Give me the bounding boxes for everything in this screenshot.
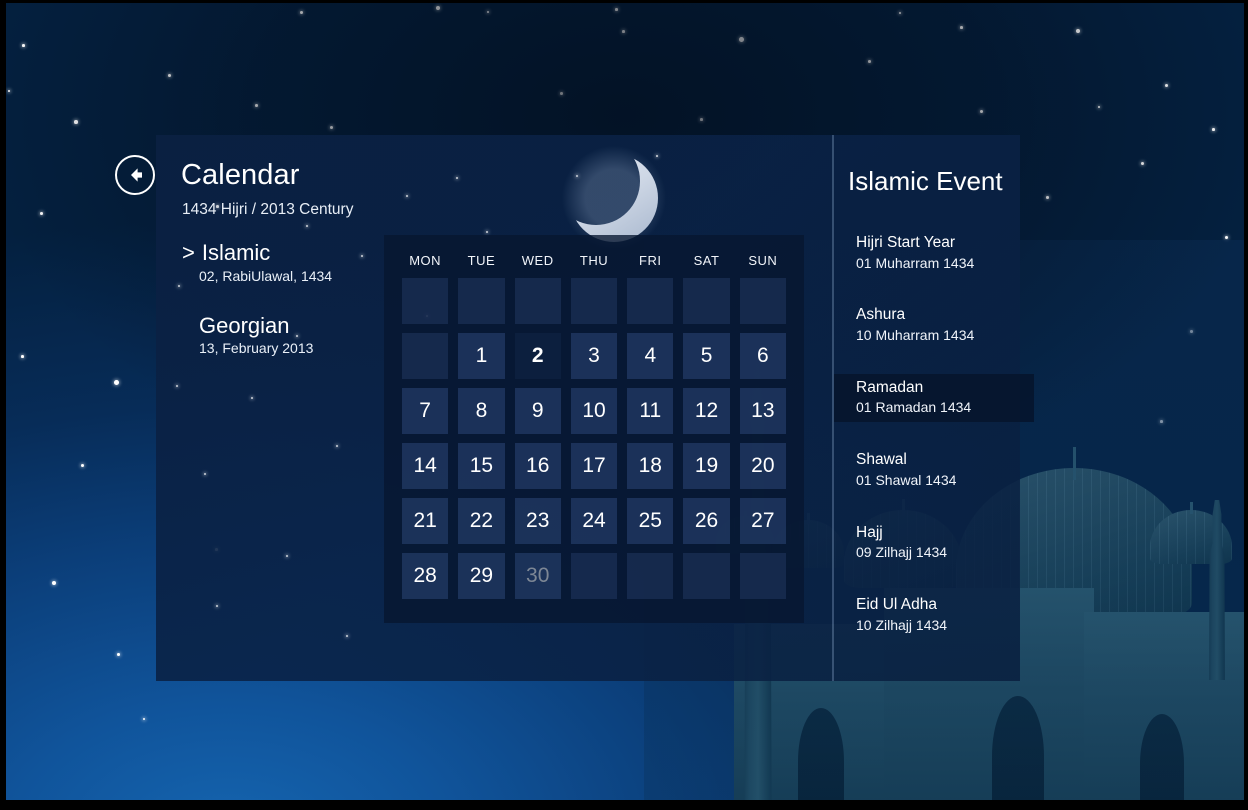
weekday-label-tue: TUE	[458, 253, 504, 268]
calendar-cell-empty	[683, 278, 729, 324]
star	[739, 37, 744, 42]
nav-item-date: 02, RabiUlawal, 1434	[199, 268, 382, 284]
star	[251, 397, 253, 399]
page-subtitle: 1434 Hijri / 2013 Century	[182, 201, 353, 219]
star	[436, 6, 440, 10]
event-date: 01 Shawal 1434	[856, 472, 1022, 489]
calendar-day-cell[interactable]: 9	[515, 388, 561, 434]
star	[255, 104, 258, 107]
event-date: 01 Muharram 1434	[856, 255, 1022, 272]
star	[456, 177, 458, 179]
calendar-day-cell[interactable]: 8	[458, 388, 504, 434]
calendar-day-cell[interactable]: 7	[402, 388, 448, 434]
calendar-cell-empty	[740, 553, 786, 599]
star	[286, 555, 288, 557]
star	[21, 355, 24, 358]
calendar-day-cell[interactable]: 23	[515, 498, 561, 544]
star	[1225, 236, 1228, 239]
star	[960, 26, 963, 29]
calendar-day-cell[interactable]: 17	[571, 443, 617, 489]
event-item[interactable]: Ramadan01 Ramadan 1434	[834, 374, 1034, 422]
calendar-app-panel: Calendar 1434 Hijri / 2013 Century	[156, 135, 1020, 681]
event-name: Hijri Start Year	[856, 234, 1022, 253]
events-panel-title: Islamic Event	[848, 166, 1003, 197]
calendar-day-cell[interactable]: 25	[627, 498, 673, 544]
calendar-cell-empty	[571, 278, 617, 324]
star	[656, 155, 658, 157]
star	[487, 11, 489, 13]
weekday-label-fri: FRI	[627, 253, 673, 268]
calendar-day-cell[interactable]: 19	[683, 443, 729, 489]
nav-item-label: Islamic	[202, 240, 270, 265]
calendar-cell-empty	[458, 278, 504, 324]
calendar-day-cell[interactable]: 20	[740, 443, 786, 489]
star	[560, 92, 563, 95]
mosque-dome-small	[1150, 510, 1232, 564]
calendar-day-cell[interactable]: 15	[458, 443, 504, 489]
mosque-arch	[992, 696, 1044, 800]
star	[330, 126, 333, 129]
calendar-day-grid: 1234567891011121314151617181920212223242…	[384, 268, 804, 599]
nav-item-georgian[interactable]: Georgian13, February 2013	[182, 314, 382, 357]
mosque-arch	[798, 708, 844, 800]
star	[300, 11, 303, 14]
islamic-events-panel: Islamic Event Hijri Start Year01 Muharra…	[832, 135, 1022, 681]
star	[336, 445, 338, 447]
star	[486, 231, 488, 233]
events-list: Hijri Start Year01 Muharram 1434Ashura10…	[834, 229, 1022, 663]
calendar-day-cell[interactable]: 22	[458, 498, 504, 544]
night-sky-background: Calendar 1434 Hijri / 2013 Century	[6, 3, 1244, 800]
star	[8, 90, 10, 92]
calendar-day-cell[interactable]: 13	[740, 388, 786, 434]
star	[204, 473, 206, 475]
calendar-cell-empty	[627, 278, 673, 324]
calendar-day-cell[interactable]: 16	[515, 443, 561, 489]
event-name: Ramadan	[856, 379, 1034, 398]
weekday-label-wed: WED	[515, 253, 561, 268]
star	[615, 8, 618, 11]
back-button[interactable]	[115, 155, 155, 195]
nav-item-label: Georgian	[199, 313, 290, 338]
arrow-left-icon	[124, 164, 146, 186]
star	[40, 212, 43, 215]
event-item[interactable]: Shawal01 Shawal 1434	[834, 446, 1022, 494]
star	[81, 464, 84, 467]
event-name: Ashura	[856, 306, 1022, 325]
star	[1212, 128, 1215, 131]
calendar-day-cell[interactable]: 29	[458, 553, 504, 599]
star	[1098, 106, 1100, 108]
calendar-day-cell[interactable]: 26	[683, 498, 729, 544]
event-date: 10 Muharram 1434	[856, 327, 1022, 344]
star	[216, 605, 218, 607]
calendar-day-cell[interactable]: 1	[458, 333, 504, 379]
calendar-day-cell[interactable]: 11	[627, 388, 673, 434]
calendar-day-cell[interactable]: 18	[627, 443, 673, 489]
weekday-label-sat: SAT	[683, 253, 729, 268]
star	[114, 380, 119, 385]
chevron-right-icon: >	[182, 241, 195, 266]
page-title: Calendar	[181, 159, 300, 192]
star	[74, 120, 78, 124]
star	[1076, 29, 1080, 33]
event-item[interactable]: Hajj09 Zilhajj 1434	[834, 519, 1022, 567]
star	[178, 285, 180, 287]
calendar-day-cell[interactable]: 24	[571, 498, 617, 544]
calendar-day-cell[interactable]: 28	[402, 553, 448, 599]
event-name: Shawal	[856, 451, 1022, 470]
star	[117, 653, 120, 656]
star	[899, 12, 901, 14]
app-stage: Calendar 1434 Hijri / 2013 Century	[0, 0, 1248, 810]
event-name: Eid Ul Adha	[856, 596, 1022, 615]
mosque-minaret-small	[1206, 500, 1228, 680]
star	[576, 175, 578, 177]
calendar-cell-empty	[740, 278, 786, 324]
star	[700, 118, 703, 121]
calendar-day-cell[interactable]: 2	[515, 333, 561, 379]
calendar-cell-empty	[515, 278, 561, 324]
calendar-cell-empty	[627, 553, 673, 599]
event-item[interactable]: Eid Ul Adha10 Zilhajj 1434	[834, 591, 1022, 639]
calendar-day-cell[interactable]: 4	[627, 333, 673, 379]
event-name: Hajj	[856, 524, 1022, 543]
calendar-day-cell[interactable]: 21	[402, 498, 448, 544]
calendar-day-cell[interactable]: 10	[571, 388, 617, 434]
star	[1190, 330, 1193, 333]
star	[346, 635, 348, 637]
calendar-day-cell[interactable]: 30	[515, 553, 561, 599]
calendar-day-cell[interactable]: 5	[683, 333, 729, 379]
calendar-cell-empty	[571, 553, 617, 599]
star	[176, 385, 178, 387]
event-item[interactable]: Hijri Start Year01 Muharram 1434	[834, 229, 1022, 277]
calendar-day-cell[interactable]: 12	[683, 388, 729, 434]
star	[306, 225, 308, 227]
event-date: 01 Ramadan 1434	[856, 399, 1034, 416]
weekday-label-thu: THU	[571, 253, 617, 268]
nav-item-title: Georgian	[182, 314, 382, 339]
mosque-facade	[1084, 612, 1244, 800]
star	[168, 74, 171, 77]
calendar-cell-empty	[402, 333, 448, 379]
calendar-cell-empty	[402, 278, 448, 324]
event-item[interactable]: Ashura10 Muharram 1434	[834, 301, 1022, 349]
star	[622, 30, 625, 33]
calendar-day-cell[interactable]: 3	[571, 333, 617, 379]
calendar-day-cell[interactable]: 6	[740, 333, 786, 379]
star	[868, 60, 871, 63]
star	[143, 718, 145, 720]
event-date: 10 Zilhajj 1434	[856, 617, 1022, 634]
weekday-label-sun: SUN	[740, 253, 786, 268]
star	[1141, 162, 1144, 165]
calendar-panel: MONTUEWEDTHUFRISATSUN 123456789101112131…	[384, 235, 804, 623]
star	[1046, 196, 1049, 199]
calendar-day-cell[interactable]: 14	[402, 443, 448, 489]
nav-item-islamic[interactable]: >Islamic02, RabiUlawal, 1434	[182, 241, 382, 284]
star	[22, 44, 25, 47]
nav-item-date: 13, February 2013	[199, 340, 382, 356]
weekday-label-mon: MON	[402, 253, 448, 268]
star	[980, 110, 983, 113]
star	[1160, 420, 1163, 423]
calendar-day-cell[interactable]: 27	[740, 498, 786, 544]
event-date: 09 Zilhajj 1434	[856, 544, 1022, 561]
mosque-arch	[1140, 714, 1184, 800]
calendar-type-nav: >Islamic02, RabiUlawal, 1434Georgian13, …	[182, 241, 382, 386]
nav-item-title: >Islamic	[182, 241, 382, 266]
calendar-cell-empty	[683, 553, 729, 599]
star	[1165, 84, 1168, 87]
star	[52, 581, 56, 585]
weekday-header-row: MONTUEWEDTHUFRISATSUN	[384, 253, 804, 268]
star	[406, 195, 408, 197]
